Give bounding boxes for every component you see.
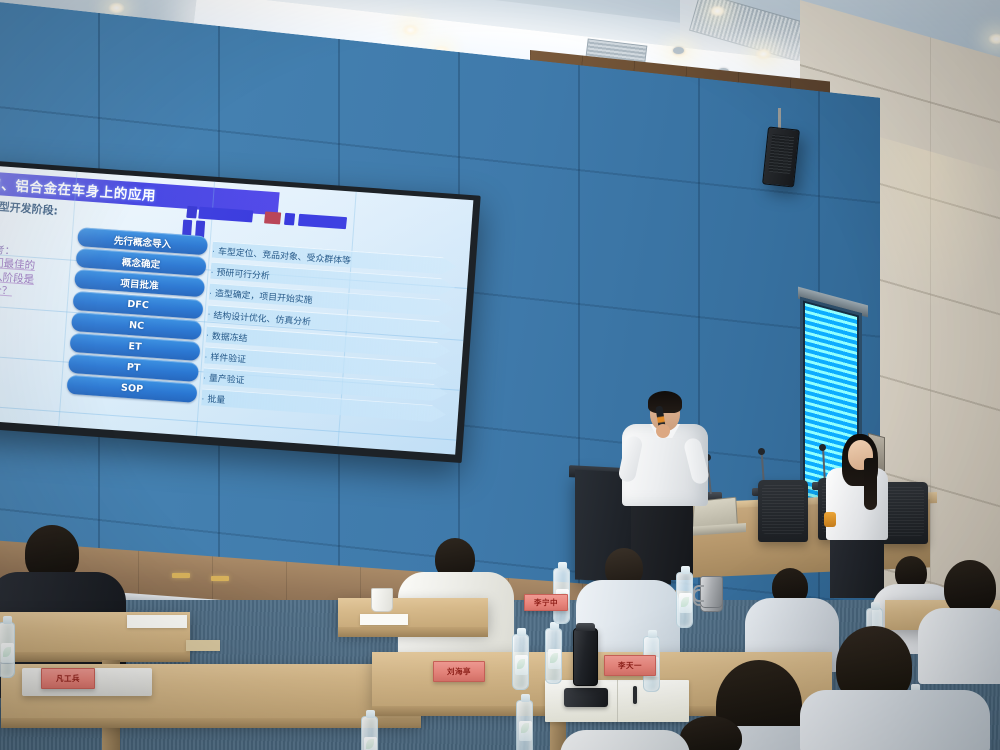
- water-bottle: [0, 622, 15, 678]
- name-placard: 李天一: [604, 655, 656, 676]
- slide-question-block: 思考： 我们最佳的 介入阶段是 哪个？: [0, 243, 62, 302]
- name-placard: 凡工兵: [41, 668, 95, 689]
- bottle-label-leaf: [550, 653, 558, 663]
- paper-sheet: [360, 614, 408, 625]
- table-edge: [0, 652, 190, 662]
- microphone-icon: [819, 444, 826, 451]
- bottle-label-leaf: [366, 739, 374, 749]
- audience-torso: [800, 690, 990, 750]
- audience-torso: [560, 730, 690, 750]
- pen: [633, 686, 637, 704]
- bottle-label-leaf: [681, 597, 689, 607]
- wall-speaker-icon: [762, 126, 800, 187]
- water-bottle: [516, 700, 533, 750]
- stage-description-list: · 车型定位、竞品对象、受众群体等 · 预研可行分析 · 造型确定，项目开始实施…: [201, 240, 462, 427]
- presenter-hand: [656, 424, 670, 438]
- name-placard: 李宁中: [524, 594, 568, 611]
- bottle-label-leaf: [3, 647, 11, 657]
- water-bottle: [361, 716, 378, 750]
- toolbar-chip[interactable]: [198, 207, 253, 223]
- water-bottle: [545, 628, 562, 684]
- downlight-icon: [988, 33, 1000, 45]
- toolbar-chip[interactable]: [264, 211, 281, 224]
- paper-sheet: [186, 640, 220, 651]
- stage-floor-light: [211, 576, 229, 581]
- conference-room-photo: 四、铝合金在车身上的应用 车型开发阶段: 思考： 我们最佳的 介入阶段是 哪个？…: [0, 0, 1000, 750]
- bottle-label-leaf: [517, 659, 525, 669]
- ppt-toolbar-overlay[interactable]: [186, 206, 387, 234]
- stage-description: 数据冻结: [212, 329, 248, 345]
- placard-name: 李天一: [618, 660, 642, 671]
- audience-torso: [918, 608, 1000, 684]
- development-stage-list: 先行概念导入 概念确定 项目批准 DFC NC ET PT SOP: [66, 227, 208, 405]
- projection-screen[interactable]: 四、铝合金在车身上的应用 车型开发阶段: 思考： 我们最佳的 介入阶段是 哪个？…: [0, 160, 481, 463]
- slide-subtitle: 车型开发阶段:: [0, 198, 59, 219]
- placard-name: 刘海亭: [447, 666, 471, 677]
- assistant-hair-tail: [864, 458, 877, 510]
- downlight-icon: [402, 24, 419, 36]
- slide-surface: 四、铝合金在车身上的应用 车型开发阶段: 思考： 我们最佳的 介入阶段是 哪个？…: [0, 165, 473, 454]
- assistant-skirt: [830, 536, 884, 598]
- toolbar-chip[interactable]: [298, 214, 347, 229]
- table-edge: [1, 718, 421, 728]
- name-placard: 刘海亭: [433, 661, 485, 682]
- smartphone[interactable]: [564, 688, 608, 707]
- office-chair[interactable]: [758, 480, 808, 542]
- downlight-icon: [755, 48, 772, 60]
- coffee-mug: [371, 588, 393, 612]
- smoke-detector-icon: [673, 47, 684, 54]
- downlight-icon: [108, 2, 125, 14]
- table-edge: [338, 627, 488, 637]
- water-bottle: [676, 572, 693, 628]
- stage-description: 样件验证: [210, 350, 246, 366]
- paper-sheet: [127, 615, 187, 628]
- bottle-label-leaf: [521, 723, 529, 733]
- presenter-hair: [648, 391, 682, 413]
- downlight-icon: [709, 5, 726, 17]
- thermos-flask: [700, 576, 723, 608]
- stage-floor-light: [172, 573, 190, 578]
- toolbar-chip[interactable]: [284, 213, 295, 226]
- microphone-icon: [758, 448, 765, 455]
- presenter-clicker[interactable]: [824, 512, 836, 527]
- toolbar-chip[interactable]: [186, 206, 197, 219]
- stage-description: 批量: [207, 392, 226, 406]
- placard-name: 李宁中: [534, 597, 558, 608]
- stage-description: 量产验证: [209, 371, 245, 387]
- water-bottle: [512, 634, 529, 690]
- black-tumbler: [573, 628, 598, 686]
- placard-name: 凡工兵: [56, 673, 80, 684]
